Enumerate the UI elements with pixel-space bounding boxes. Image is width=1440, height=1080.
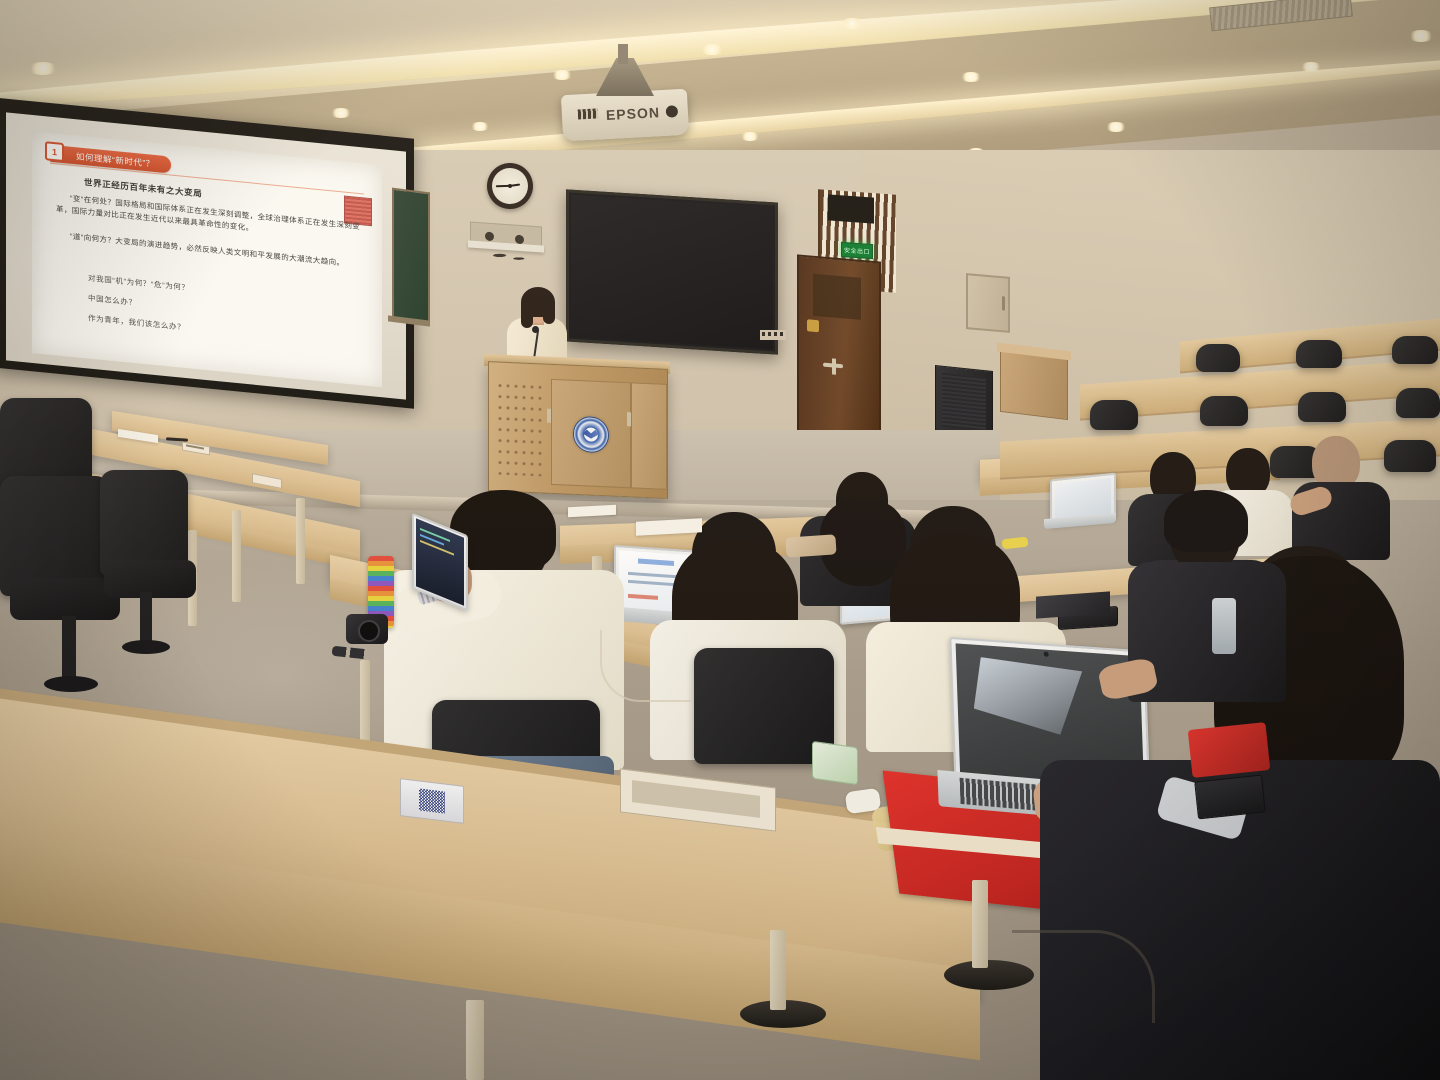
wall-utility-cabinet [966, 273, 1010, 333]
projector-mount-pole [618, 44, 628, 64]
exit-sign-label: 安全出口 [844, 245, 870, 256]
downlight-icon [840, 18, 864, 29]
display-control-buttons [762, 332, 784, 336]
projector-brand-label: EPSON [606, 104, 661, 123]
podium-perforation-pattern [497, 382, 545, 476]
qr-code-icon [419, 788, 445, 813]
downlight-icon [551, 70, 573, 80]
door-plate-icon [807, 319, 819, 332]
clock-face [492, 168, 528, 204]
podium-handle [547, 409, 551, 423]
wall-knob-icon [485, 232, 494, 242]
projection-screen: 如何理解“新时代”？ 1 世界正经历百年未有之大变局 “变”在何处？国际格局和国… [6, 112, 406, 399]
snack-bag [785, 534, 836, 557]
slide-badge-number: 1 [45, 141, 64, 162]
tier-chair[interactable] [1298, 392, 1346, 422]
chair-base [44, 676, 98, 692]
qr-code-sticker [400, 778, 464, 824]
slide-question: 作为青年，我们该怎么办？ [88, 312, 185, 333]
projector-vent-grille [578, 108, 598, 119]
green-badge-sticker [812, 741, 858, 785]
green-chalkboard [392, 188, 430, 327]
chair-base [122, 640, 170, 654]
downlight-icon [1408, 30, 1434, 42]
student-hair-short [1164, 490, 1248, 552]
presenter-hair-right [543, 300, 555, 324]
tier-chair[interactable] [1392, 336, 1438, 364]
table-leg [466, 1000, 484, 1080]
projector-lens [666, 105, 679, 118]
desk-foot [944, 960, 1034, 990]
tier-chair[interactable] [1296, 340, 1342, 368]
laptop-camera-icon [1044, 652, 1049, 657]
cabinet-hinge [1002, 296, 1005, 310]
door-window [813, 274, 861, 320]
projector: EPSON [561, 89, 689, 142]
camera-lens-icon [358, 620, 380, 642]
table-leg [770, 930, 786, 1010]
downlight-icon [1300, 62, 1322, 72]
downlight-icon [330, 108, 352, 118]
university-crest-icon [573, 416, 609, 454]
side-lectern [1000, 348, 1068, 420]
slide-question: 中国怎么办？ [88, 292, 137, 308]
cable-bundle [474, 249, 538, 265]
downlight-icon [1105, 122, 1127, 132]
wall-mounted-speaker [828, 194, 874, 223]
slide-question: 对我国“机”为何？“危”为何？ [88, 272, 190, 293]
presenter-hair-left [521, 302, 533, 328]
podium [488, 361, 668, 499]
podium-handle [627, 412, 631, 426]
speaker-grille [942, 373, 986, 432]
tier-chair[interactable] [1090, 400, 1138, 430]
downlight-icon [740, 132, 760, 141]
clock-center-pin [508, 184, 512, 188]
presentation-slide: 如何理解“新时代”？ 1 世界正经历百年未有之大变局 “变”在何处？国际格局和国… [32, 131, 382, 387]
tier-chair[interactable] [1396, 388, 1440, 418]
downlight-icon [28, 62, 58, 75]
floor-cable [600, 630, 692, 702]
microphone-icon [532, 326, 539, 333]
smartphone[interactable] [1194, 775, 1266, 820]
table-leg [972, 880, 988, 968]
chair-post [62, 616, 76, 680]
podium-right-panel [631, 382, 667, 490]
table-leg [232, 510, 241, 602]
tier-chair[interactable] [1196, 344, 1240, 372]
exit-sign: 安全出口 [841, 242, 873, 259]
party-emblem-sticker [1188, 722, 1271, 778]
door-lock-icon [832, 358, 836, 374]
downlight-icon [700, 44, 724, 55]
display-screen [571, 195, 773, 350]
tier-chair[interactable] [1384, 440, 1436, 472]
lecture-hall-photo: EPSON 如何理解“新时代”？ 1 世界正经历百年未有之大变局 “变”在何处？… [0, 0, 1440, 1080]
crest-inner-mark [583, 429, 599, 439]
flat-panel-display [566, 189, 778, 354]
table-leg [296, 498, 305, 584]
downlight-icon [960, 72, 982, 82]
downlight-icon [470, 122, 490, 131]
water-bottle [1212, 598, 1236, 654]
wall-clock [487, 163, 533, 209]
tier-chair[interactable] [1200, 396, 1248, 426]
